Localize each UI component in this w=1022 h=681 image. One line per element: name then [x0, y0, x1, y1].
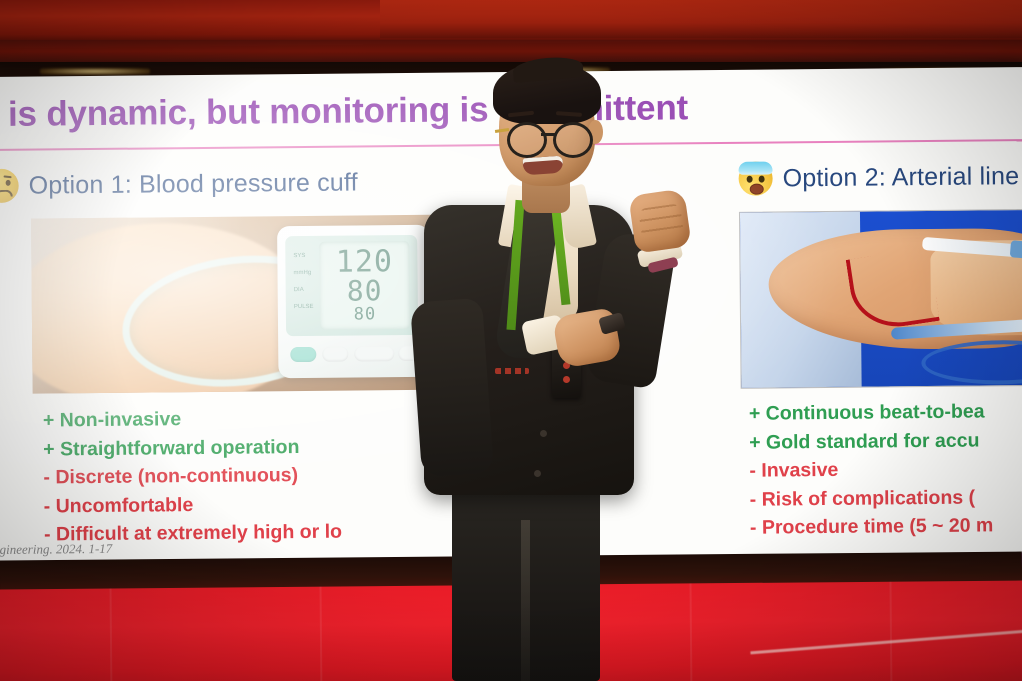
eyeglass-bridge	[541, 133, 555, 136]
presenter-jacket-embroidery	[495, 368, 529, 374]
conference-presentation-photo: P is dynamic, but monitoring is intermit…	[0, 0, 1022, 681]
presenter-knuckles	[638, 203, 684, 239]
eyeglass-lens-left	[507, 122, 547, 158]
presenter-left-arm	[410, 298, 494, 478]
jacket-button	[540, 430, 547, 437]
presenter	[0, 0, 1022, 681]
eyeglass-lens-right	[553, 122, 593, 158]
presenter-eyeglasses	[505, 122, 595, 152]
jacket-button	[534, 470, 541, 477]
presenter-leg-separation	[521, 520, 530, 681]
